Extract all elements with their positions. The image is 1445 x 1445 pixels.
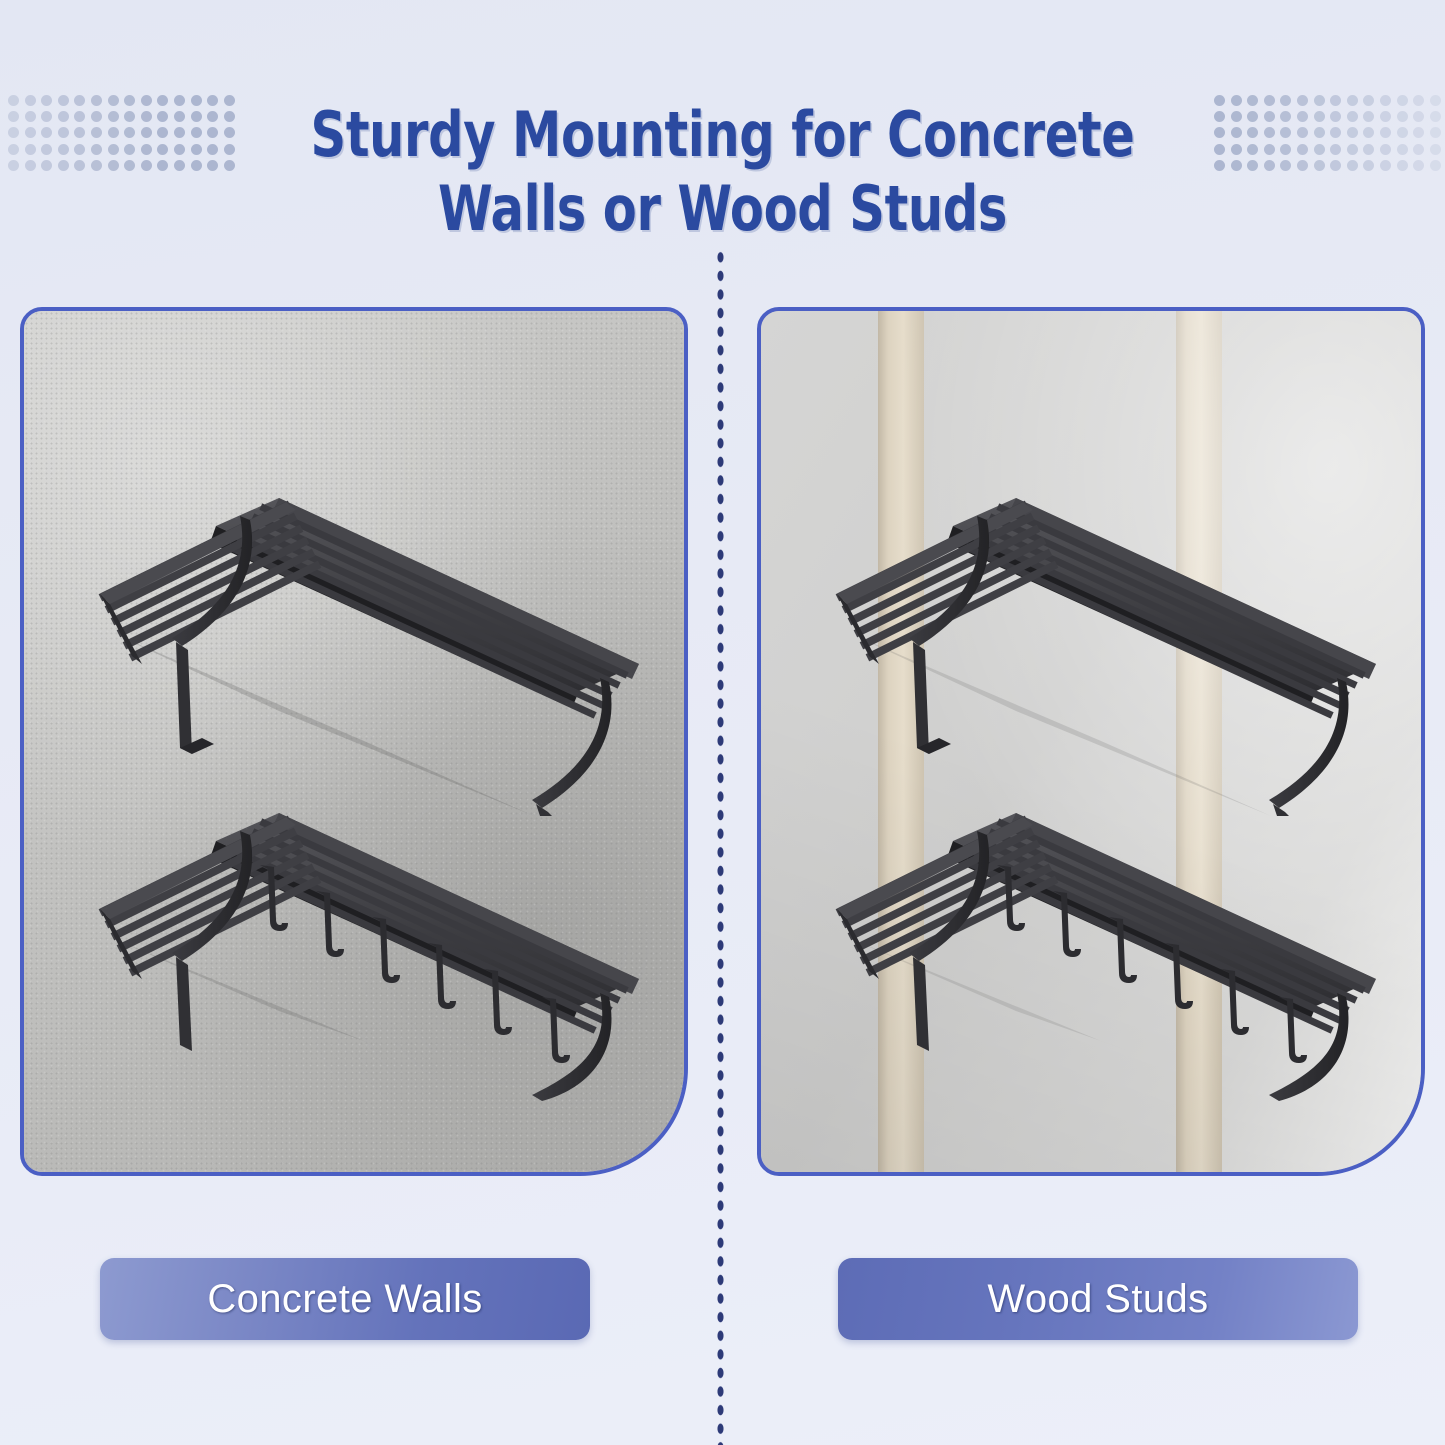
dot	[1347, 111, 1358, 122]
dot	[25, 160, 36, 171]
dot	[1330, 95, 1341, 106]
dot	[1397, 144, 1408, 155]
dot	[41, 95, 52, 106]
dot	[108, 111, 119, 122]
dot	[1397, 95, 1408, 106]
dot	[1363, 144, 1374, 155]
dot	[1314, 95, 1325, 106]
dot	[1430, 95, 1441, 106]
dot	[1397, 160, 1408, 171]
dot	[1413, 160, 1424, 171]
dot	[74, 111, 85, 122]
dot	[8, 111, 19, 122]
dot	[58, 144, 69, 155]
page-title: Sturdy Mounting for Concrete Walls or Wo…	[145, 98, 1301, 246]
dot	[1363, 111, 1374, 122]
dot	[1314, 160, 1325, 171]
dot	[1413, 111, 1424, 122]
dot	[1347, 95, 1358, 106]
dot	[1314, 144, 1325, 155]
title-line-1: Sturdy Mounting for Concrete	[145, 98, 1301, 172]
dot	[1347, 127, 1358, 138]
dot	[41, 144, 52, 155]
dot	[124, 95, 135, 106]
dot	[58, 160, 69, 171]
dot	[58, 127, 69, 138]
dot	[1380, 95, 1391, 106]
dot	[91, 127, 102, 138]
dot	[8, 160, 19, 171]
dot	[1330, 127, 1341, 138]
dot	[108, 144, 119, 155]
concrete-wall-photo-panel	[20, 307, 688, 1176]
upper-shelf-unit-wood	[801, 486, 1401, 816]
infographic-root: Sturdy Mounting for Concrete Walls or Wo…	[0, 0, 1445, 1445]
dot	[8, 127, 19, 138]
dot	[1314, 127, 1325, 138]
dot	[41, 160, 52, 171]
dot	[25, 111, 36, 122]
dot	[58, 111, 69, 122]
vertical-dotted-divider	[715, 248, 726, 1445]
dot	[1413, 127, 1424, 138]
dot	[108, 127, 119, 138]
dot	[1430, 111, 1441, 122]
dot	[124, 111, 135, 122]
dot	[74, 127, 85, 138]
dot	[1413, 95, 1424, 106]
dot	[91, 111, 102, 122]
dot	[124, 144, 135, 155]
dot	[25, 95, 36, 106]
dot	[41, 111, 52, 122]
dot	[1430, 160, 1441, 171]
dot	[1413, 144, 1424, 155]
dot	[91, 160, 102, 171]
dot	[1363, 127, 1374, 138]
dot	[1397, 111, 1408, 122]
dot	[1330, 160, 1341, 171]
caption-wood-studs[interactable]: Wood Studs	[838, 1258, 1358, 1340]
dot	[1380, 111, 1391, 122]
lower-shelf-unit-wood	[801, 801, 1401, 1101]
dot	[1330, 144, 1341, 155]
lower-shelf-unit-concrete	[64, 801, 664, 1101]
dot	[74, 144, 85, 155]
dot	[1330, 111, 1341, 122]
dot	[124, 127, 135, 138]
dot	[25, 144, 36, 155]
caption-concrete-label: Concrete Walls	[207, 1277, 482, 1322]
caption-wood-label: Wood Studs	[987, 1277, 1208, 1322]
dot	[1380, 160, 1391, 171]
wood-stud-photo-panel	[757, 307, 1425, 1176]
dot	[91, 144, 102, 155]
title-line-2: Walls or Wood Studs	[145, 172, 1301, 246]
dot	[1347, 144, 1358, 155]
dot	[91, 95, 102, 106]
dot	[8, 144, 19, 155]
dot	[1363, 95, 1374, 106]
dot	[58, 95, 69, 106]
dot	[1380, 127, 1391, 138]
dot	[1314, 111, 1325, 122]
dot	[1347, 160, 1358, 171]
dot	[41, 127, 52, 138]
dot	[1380, 144, 1391, 155]
dot	[1430, 144, 1441, 155]
dot	[1430, 127, 1441, 138]
dot	[1397, 127, 1408, 138]
dot	[74, 160, 85, 171]
dot	[8, 95, 19, 106]
dot	[74, 95, 85, 106]
upper-shelf-unit-concrete	[64, 486, 664, 816]
caption-concrete-walls[interactable]: Concrete Walls	[100, 1258, 590, 1340]
dot	[1363, 160, 1374, 171]
dot	[124, 160, 135, 171]
dot	[25, 127, 36, 138]
dot	[108, 160, 119, 171]
dot	[108, 95, 119, 106]
